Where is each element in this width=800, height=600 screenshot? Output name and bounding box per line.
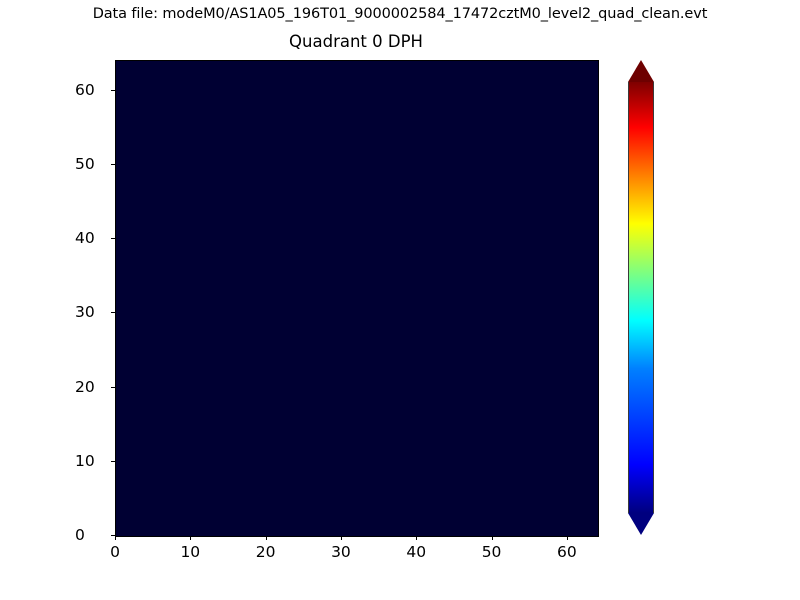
plot-title: Quadrant 0 DPH [115, 32, 597, 51]
y-tick-mark [111, 387, 115, 388]
x-tick-label: 20 [256, 543, 276, 561]
x-tick-mark [115, 536, 116, 540]
x-tick-label: 60 [557, 543, 577, 561]
x-tick-label: 40 [406, 543, 426, 561]
x-tick-label: 0 [110, 543, 120, 561]
y-tick-label: 50 [75, 155, 95, 173]
y-tick-label: 20 [75, 378, 95, 396]
heatmap-plot-area [115, 60, 599, 537]
y-tick-label: 0 [75, 526, 85, 544]
y-tick-label: 60 [75, 81, 95, 99]
x-tick-mark [341, 536, 342, 540]
x-tick-label: 10 [180, 543, 200, 561]
colorbar-over-arrow-icon [628, 60, 654, 82]
x-tick-mark [416, 536, 417, 540]
heatmap-image [116, 61, 598, 536]
y-tick-label: 40 [75, 229, 95, 247]
colorbar-under-arrow-icon [628, 513, 654, 535]
y-tick-mark [111, 312, 115, 313]
y-tick-mark [111, 461, 115, 462]
x-tick-mark [567, 536, 568, 540]
y-tick-mark [111, 90, 115, 91]
colorbar [628, 60, 654, 535]
colorbar-gradient [628, 82, 654, 513]
x-tick-label: 50 [482, 543, 502, 561]
y-tick-mark [111, 535, 115, 536]
y-tick-mark [111, 238, 115, 239]
figure-canvas: Data file: modeM0/AS1A05_196T01_90000025… [0, 0, 800, 600]
x-tick-mark [266, 536, 267, 540]
x-tick-mark [492, 536, 493, 540]
x-tick-mark [190, 536, 191, 540]
data-file-suptitle: Data file: modeM0/AS1A05_196T01_90000025… [0, 6, 800, 22]
y-tick-mark [111, 164, 115, 165]
y-tick-label: 30 [75, 303, 95, 321]
x-tick-label: 30 [331, 543, 351, 561]
y-tick-label: 10 [75, 452, 95, 470]
